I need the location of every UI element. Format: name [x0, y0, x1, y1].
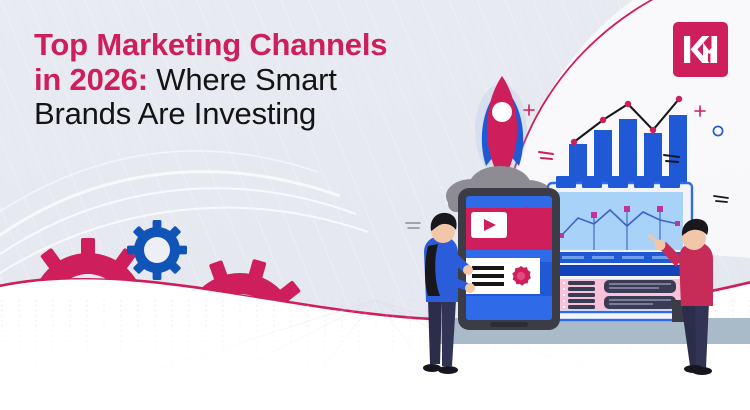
headline-line-1: Top Marketing Channels [34, 28, 504, 63]
ring-mark [713, 126, 722, 135]
headline-line-3: Brands Are Investing [34, 97, 504, 132]
dash-mark-2 [664, 155, 679, 162]
dash-mark-4 [406, 223, 420, 228]
headline-line-2: in 2026: Where Smart [34, 63, 504, 98]
headline-line-1-text: Top Marketing Channels [34, 27, 387, 62]
km-logo[interactable] [673, 22, 728, 77]
banner-canvas: Top Marketing Channels in 2026: Where Sm… [0, 0, 750, 410]
dash-mark-3 [714, 196, 728, 202]
dash-mark-1 [539, 152, 553, 159]
plus-mark-2 [695, 106, 705, 116]
plus-mark-1 [524, 105, 534, 115]
km-logo-mark [673, 22, 728, 77]
plus-mark-3 [521, 207, 531, 217]
headline-line-2-text: Where Smart [148, 62, 337, 97]
page-title: Top Marketing Channels in 2026: Where Sm… [34, 28, 504, 132]
headline-line-2-accent: in 2026: [34, 62, 148, 97]
